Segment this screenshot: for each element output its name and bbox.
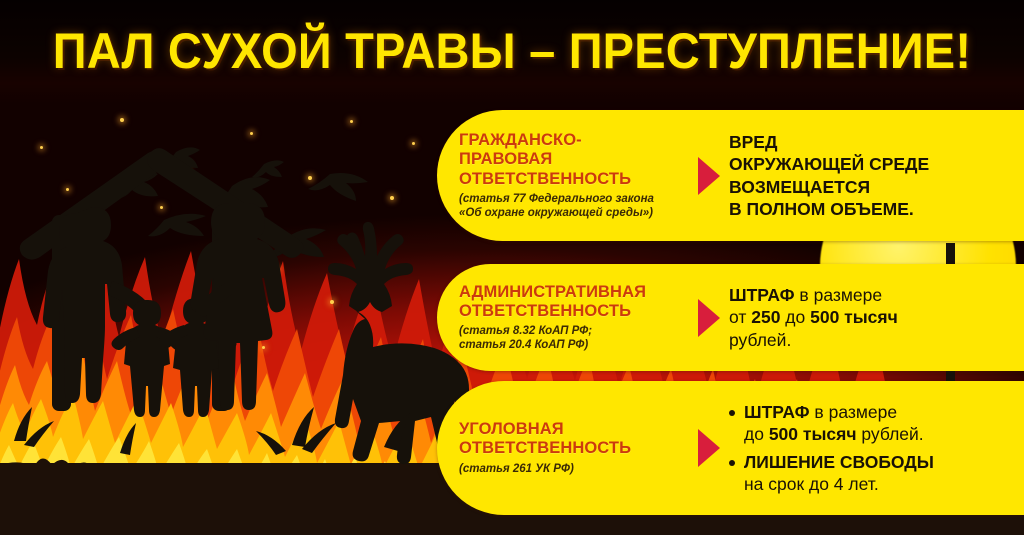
consequence-line: до 500 тысяч рублей. [744,423,1010,445]
scene-silhouettes [0,115,470,535]
category-law-reference: (статья 8.32 КоАП РФ; статья 20.4 КоАП Р… [459,324,689,352]
consequence-bullet-list: ШТРАФ в размередо 500 тысяч рублей.ЛИШЕН… [729,401,1010,495]
category-heading: УГОЛОВНАЯ ОТВЕТСТВЕННОСТЬ [459,420,689,458]
list-item: ШТРАФ в размередо 500 тысяч рублей. [729,401,1010,445]
consequence-line: ШТРАФ в размере [744,401,1010,423]
triangle-right-icon [689,427,729,469]
panel-administrative-category: АДМИНИСТРАТИВНАЯ ОТВЕТСТВЕННОСТЬ (статья… [437,283,689,352]
triangle-right-icon [689,155,729,197]
panel-civil-consequence: ВРЕД ОКРУЖАЮЩЕЙ СРЕДЕ ВОЗМЕЩАЕТСЯ В ПОЛН… [729,131,1024,219]
panel-criminal-category: УГОЛОВНАЯ ОТВЕТСТВЕННОСТЬ (статья 261 УК… [437,420,689,475]
poster-root: ПАЛ СУХОЙ ТРАВЫ – ПРЕСТУПЛЕНИЕ! ГРАЖДАНС… [0,0,1024,535]
category-heading: АДМИНИСТРАТИВНАЯ ОТВЕТСТВЕННОСТЬ [459,283,689,321]
category-law-reference: (статья 261 УК РФ) [459,462,689,476]
consequence-line: на срок до 4 лет. [744,473,1010,495]
consequence-line: ШТРАФ в размере [729,284,1010,306]
consequence-line: ЛИШЕНИЕ СВОБОДЫ [744,451,1010,473]
panel-administrative-consequence: ШТРАФ в размереот 250 до 500 тысячрублей… [729,284,1024,350]
consequence-line: от 250 до 500 тысяч [729,306,1010,328]
category-law-reference: (статья 77 Федерального закона «Об охран… [459,192,689,220]
consequence-line: рублей. [729,329,1010,351]
panel-criminal-liability: УГОЛОВНАЯ ОТВЕТСТВЕННОСТЬ (статья 261 УК… [437,381,1024,515]
panel-criminal-consequence: ШТРАФ в размередо 500 тысяч рублей.ЛИШЕН… [729,401,1024,495]
category-heading: ГРАЖДАНСКО- ПРАВОВАЯ ОТВЕТСТВЕННОСТЬ [459,131,689,188]
panel-administrative-liability: АДМИНИСТРАТИВНАЯ ОТВЕТСТВЕННОСТЬ (статья… [437,264,1024,371]
list-item: ЛИШЕНИЕ СВОБОДЫна срок до 4 лет. [729,451,1010,495]
panel-civil-category: ГРАЖДАНСКО- ПРАВОВАЯ ОТВЕТСТВЕННОСТЬ (ст… [437,131,689,219]
panel-civil-liability: ГРАЖДАНСКО- ПРАВОВАЯ ОТВЕТСТВЕННОСТЬ (ст… [437,110,1024,241]
triangle-right-icon [689,297,729,339]
page-title: ПАЛ СУХОЙ ТРАВЫ – ПРЕСТУПЛЕНИЕ! [31,26,994,76]
